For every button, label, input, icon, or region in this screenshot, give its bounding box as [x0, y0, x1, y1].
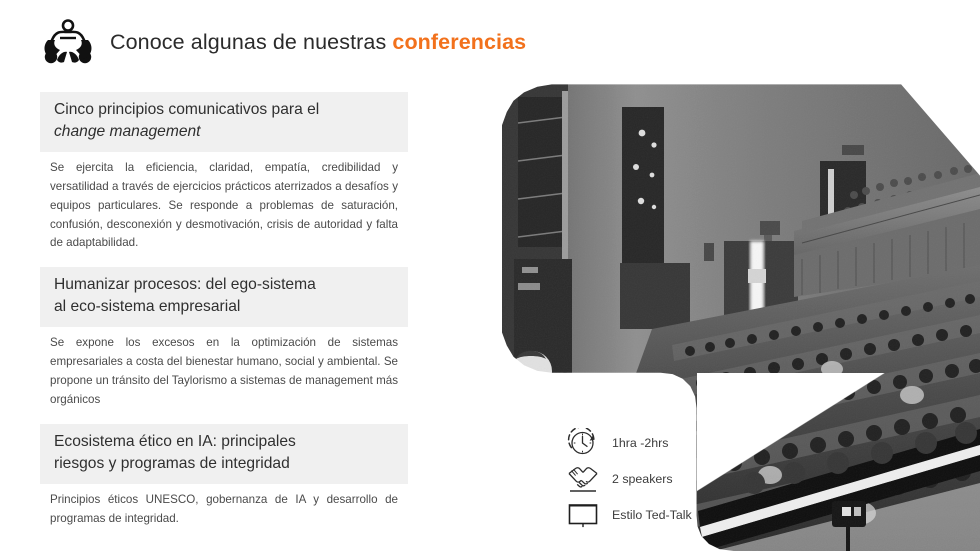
conference-heading-line2: al eco-sistema empresarial	[54, 298, 240, 315]
page-title: Conoce algunas de nuestras conferencias	[110, 30, 526, 55]
presentation-screen-icon	[566, 500, 600, 530]
conference-list: Cinco principios comunicativos para el c…	[40, 92, 412, 542]
meta-label-speakers: 2 speakers	[612, 472, 673, 486]
meta-item-speakers: 2 speakers	[566, 461, 786, 497]
conference-heading-line2: change management	[54, 123, 201, 140]
conference-heading-line1: Humanizar procesos: del ego-sistema	[54, 276, 316, 293]
page-title-plain: Conoce algunas de nuestras	[110, 30, 392, 54]
conference-item: Humanizar procesos: del ego-sistema al e…	[40, 267, 412, 409]
page-header: Conoce algunas de nuestras conferencias	[40, 16, 526, 68]
conference-item: Ecosistema ético en IA: principales ries…	[40, 424, 412, 529]
page-title-accent: conferencias	[392, 30, 526, 54]
clock-duration-icon	[566, 428, 600, 458]
meta-item-format: Estilo Ted-Talk	[566, 497, 786, 533]
conference-heading: Humanizar procesos: del ego-sistema al e…	[40, 267, 408, 327]
conference-body: Principios éticos UNESCO, gobernanza de …	[40, 484, 398, 529]
conference-heading-line1: Ecosistema ético en IA: principales	[54, 433, 296, 450]
conference-item: Cinco principios comunicativos para el c…	[40, 92, 412, 253]
meta-label-format: Estilo Ted-Talk	[612, 508, 692, 522]
conference-heading-line2: riesgos y programas de integridad	[54, 455, 290, 472]
conference-body: Se expone los excesos en la optimización…	[40, 327, 398, 409]
meta-item-duration: 1hra -2hrs	[566, 425, 786, 461]
conference-heading-line1: Cinco principios comunicativos para el	[54, 101, 319, 118]
conference-heading: Cinco principios comunicativos para el c…	[40, 92, 408, 152]
conference-body: Se ejercita la eficiencia, claridad, emp…	[40, 152, 398, 253]
meta-label-duration: 1hra -2hrs	[612, 436, 668, 450]
conference-heading: Ecosistema ético en IA: principales ries…	[40, 424, 408, 484]
conference-meta-list: 1hra -2hrs 2 speakers	[566, 425, 786, 533]
three-people-circle-logo	[40, 16, 96, 68]
handshake-icon	[566, 464, 600, 494]
